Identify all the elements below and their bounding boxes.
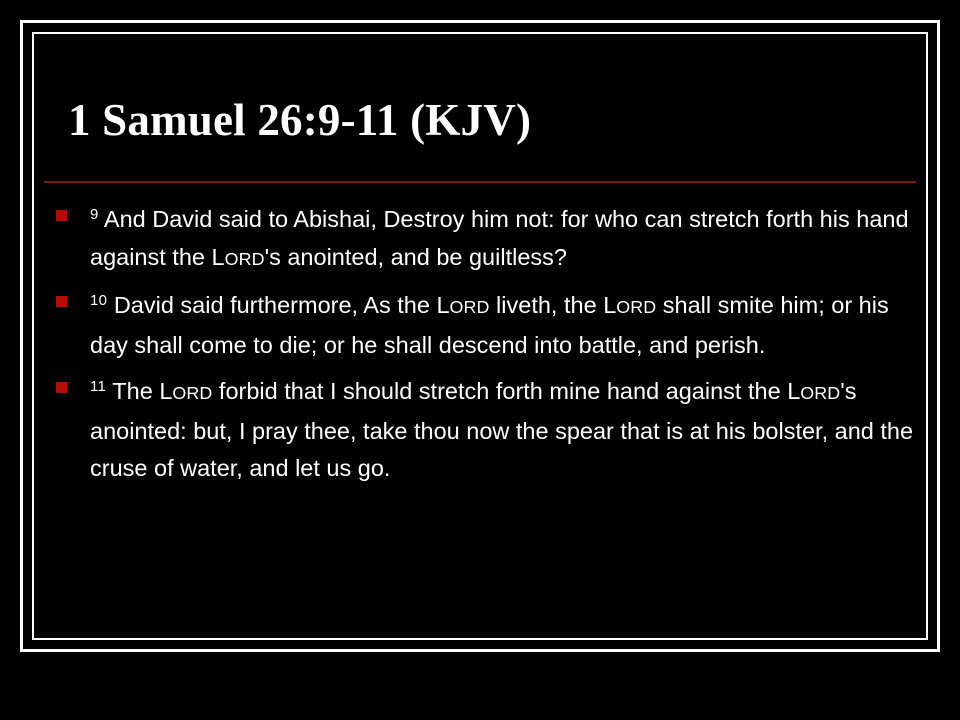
verse-number: 10: [90, 292, 107, 309]
slide-content: 1 Samuel 26:9-11 (KJV) 9 And David said …: [34, 34, 926, 638]
divine-name-lord: LORD: [159, 378, 212, 404]
divine-name-lord: LORD: [212, 244, 265, 270]
verse-text: liveth, the: [490, 292, 604, 318]
presentation-slide: 1 Samuel 26:9-11 (KJV) 9 And David said …: [0, 0, 960, 720]
verse-text: forbid that I should stretch forth mine …: [212, 378, 787, 404]
square-bullet-icon: [56, 296, 67, 307]
verse-number: 11: [90, 378, 106, 395]
verse-text: 's anointed, and be guiltless?: [265, 244, 567, 270]
square-bullet-icon: [56, 382, 67, 393]
verse-number: 9: [90, 206, 99, 223]
list-item: 11 The LORD forbid that I should stretch…: [46, 368, 922, 488]
divine-name-lord: LORD: [436, 292, 489, 318]
verse-text: David said furthermore, As the: [107, 292, 436, 318]
title-divider-rule: [44, 181, 916, 183]
square-bullet-icon: [56, 210, 67, 221]
verse-bullet-list: 9 And David said to Abishai, Destroy him…: [46, 196, 922, 492]
page-title: 1 Samuel 26:9-11 (KJV): [68, 96, 908, 145]
verse-text: The: [106, 378, 159, 404]
divine-name-lord: LORD: [603, 292, 656, 318]
list-item: 9 And David said to Abishai, Destroy him…: [46, 196, 922, 278]
divine-name-lord: LORD: [787, 378, 840, 404]
list-item: 10 David said furthermore, As the LORD l…: [46, 282, 922, 364]
